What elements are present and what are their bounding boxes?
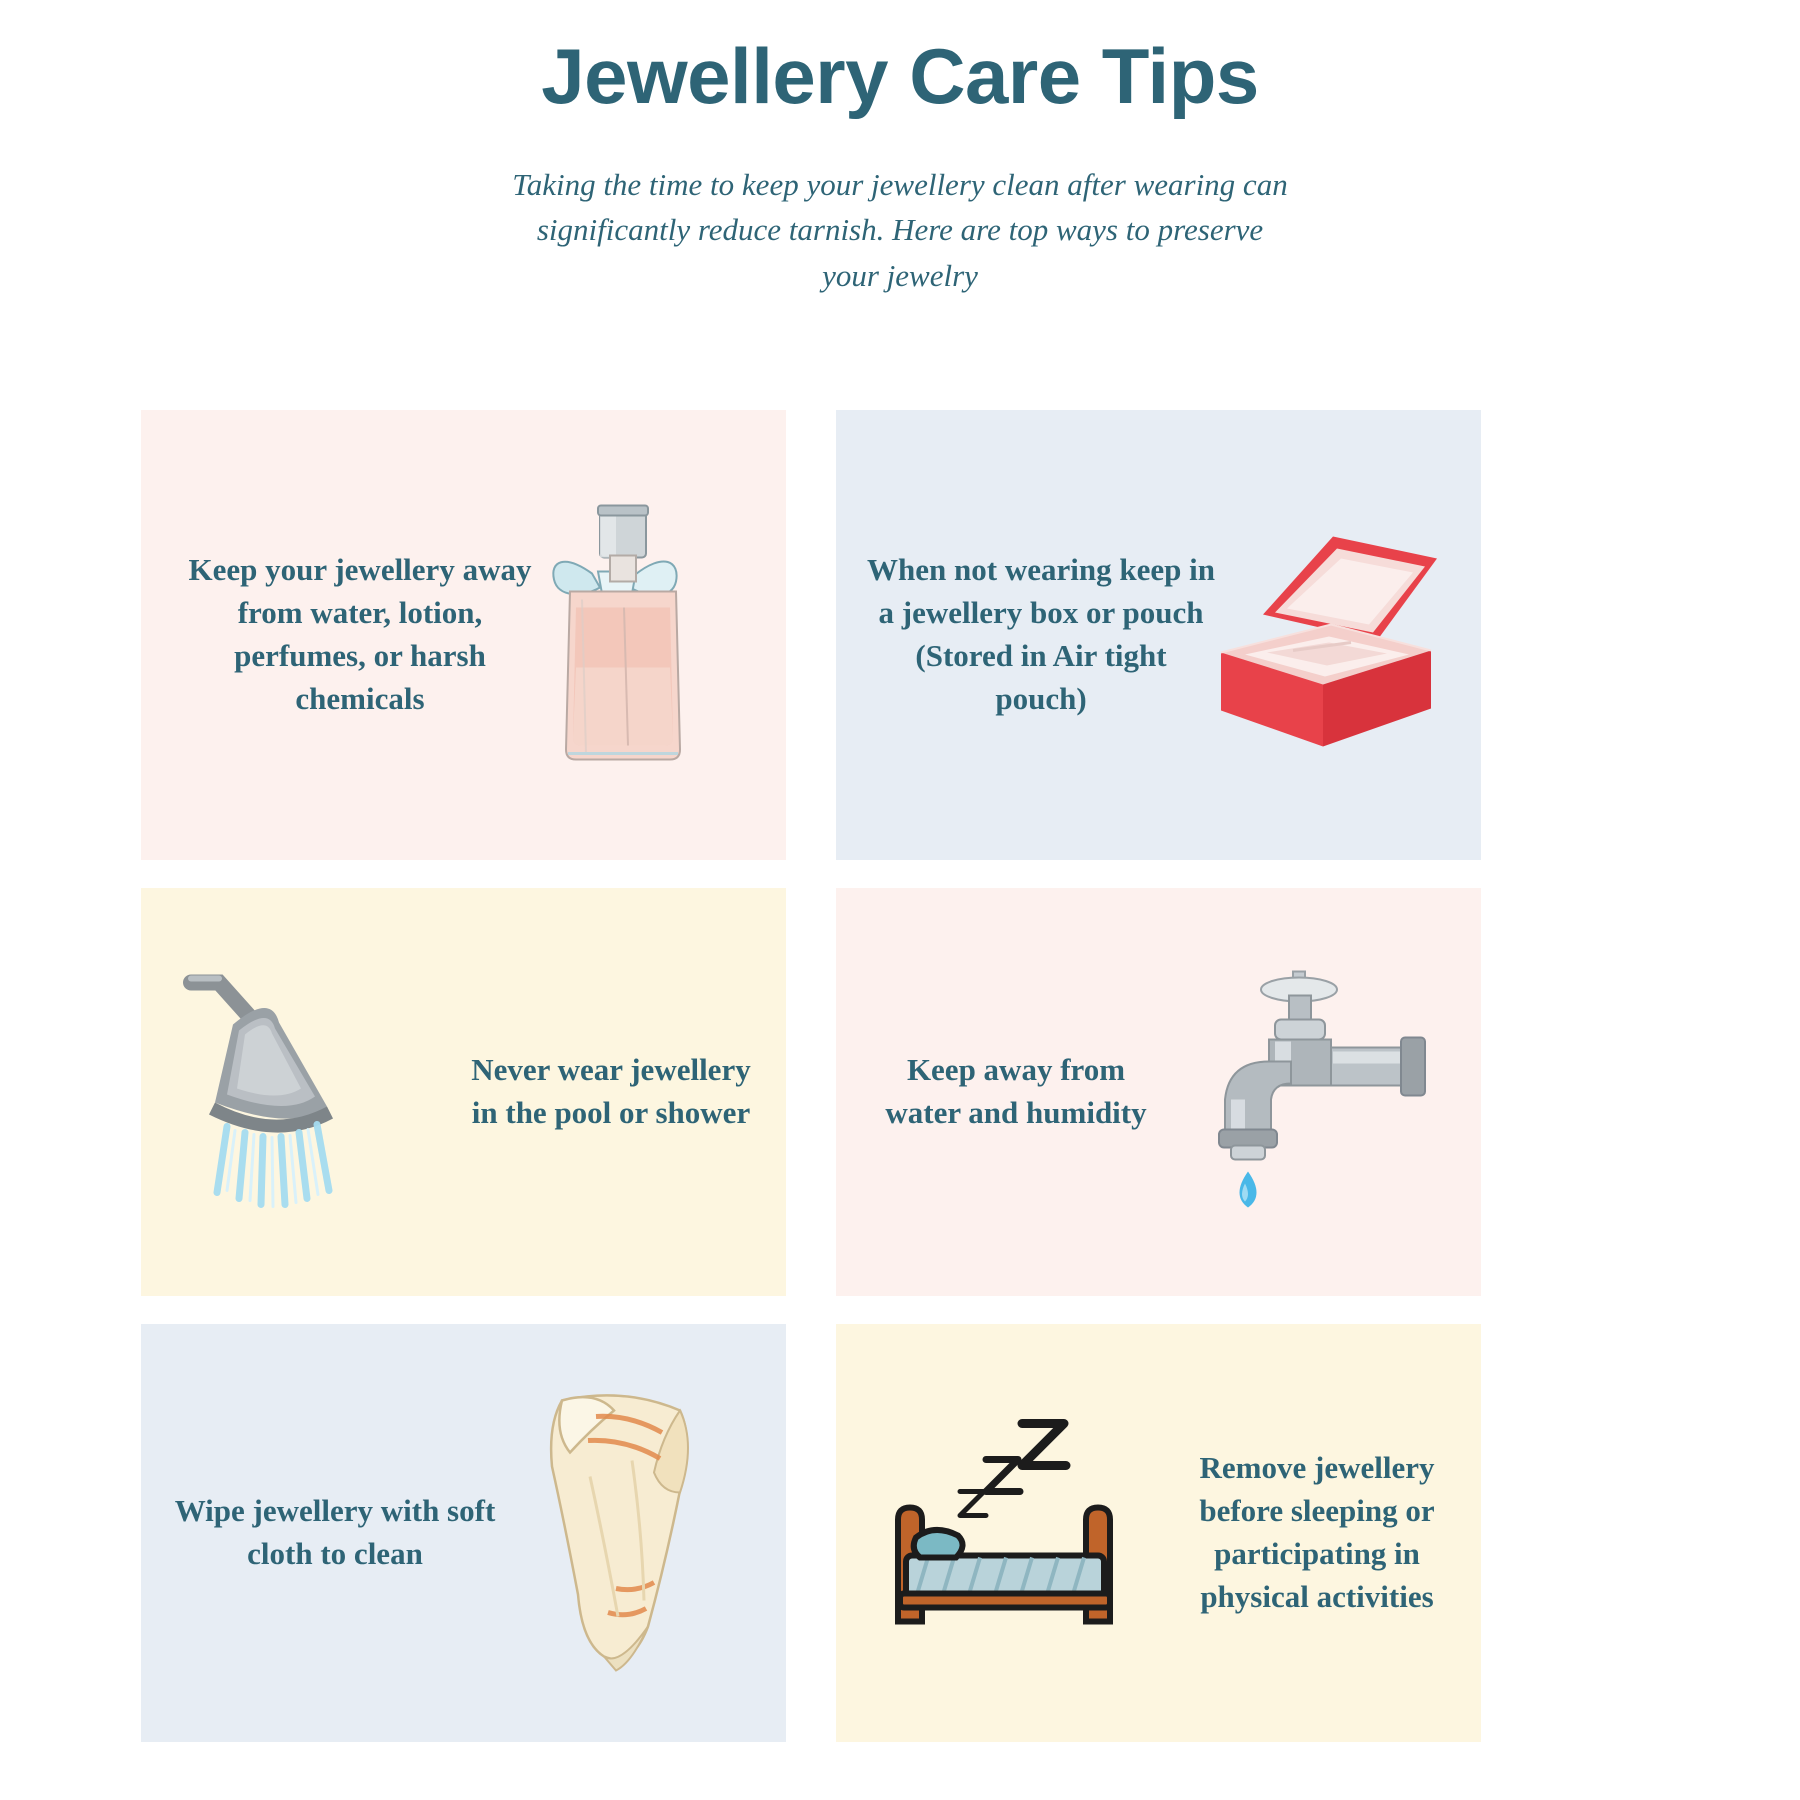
ring-box-icon: [1201, 503, 1451, 768]
tip-card-wipe-text: Wipe jewellery with soft cloth to clean: [141, 1490, 501, 1576]
tip-card-shower: Never wear jewellery in the pool or show…: [141, 888, 786, 1296]
tip-card-sleep: Remove jewellery before sleeping or part…: [836, 1324, 1481, 1742]
shower-head-icon: [175, 965, 405, 1220]
page-subtitle: Taking the time to keep your jewellery c…: [505, 162, 1295, 298]
soft-cloth-icon: [504, 1381, 734, 1686]
tip-card-sleep-text: Remove jewellery before sleeping or part…: [1181, 1447, 1481, 1618]
tip-card-shower-text: Never wear jewellery in the pool or show…: [456, 1049, 786, 1135]
header: Jewellery Care Tips Taking the time to k…: [0, 0, 1800, 298]
tip-card-humidity: Keep away from water and humidity: [836, 888, 1481, 1296]
tips-grid: Keep your jewellery away from water, lot…: [141, 410, 1660, 1742]
sleeping-bed-icon: [876, 1416, 1136, 1651]
tip-card-chemicals: Keep your jewellery away from water, lot…: [141, 410, 786, 860]
tip-card-storage: When not wearing keep in a jewellery box…: [836, 410, 1481, 860]
page-title: Jewellery Care Tips: [0, 34, 1800, 118]
infographic-page: Jewellery Care Tips Taking the time to k…: [0, 0, 1800, 1800]
perfume-bottle-icon: [524, 488, 744, 783]
tip-card-wipe: Wipe jewellery with soft cloth to clean: [141, 1324, 786, 1742]
tip-card-chemicals-text: Keep your jewellery away from water, lot…: [141, 549, 541, 720]
tip-card-storage-text: When not wearing keep in a jewellery box…: [836, 549, 1216, 720]
faucet-icon: [1195, 950, 1445, 1235]
tip-card-humidity-text: Keep away from water and humidity: [836, 1049, 1156, 1135]
